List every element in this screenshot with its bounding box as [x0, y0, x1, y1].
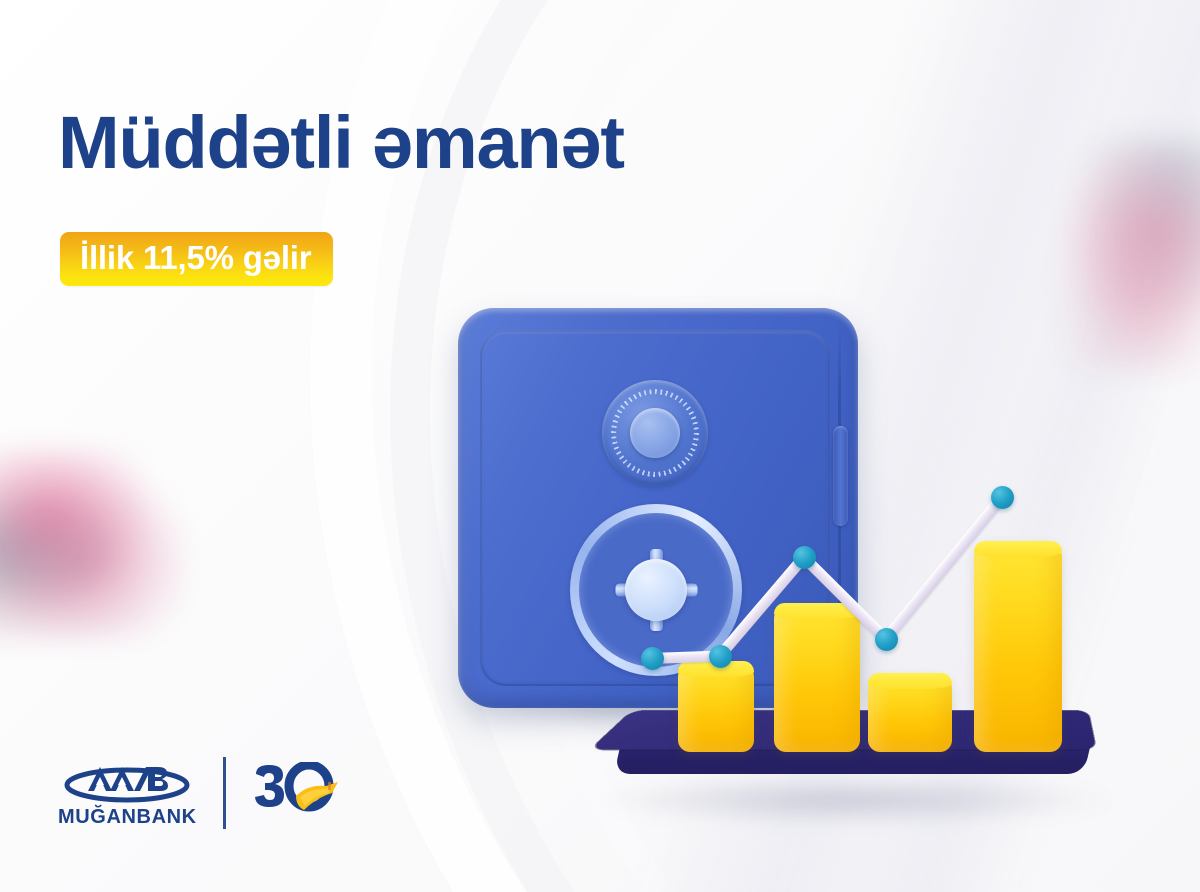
- safe-hinge-icon: [833, 426, 848, 526]
- chart-bar: [774, 603, 860, 752]
- logo-divider: [223, 757, 226, 829]
- chart-bar: [868, 673, 952, 752]
- muganbank-oval-mountain-emblem-icon: [62, 758, 192, 804]
- decorative-blur-left: [0, 452, 182, 637]
- safe-handle-wheel-icon: [570, 504, 742, 676]
- platform-shadow: [592, 784, 1112, 824]
- page-title: Müddətli əmanət: [58, 104, 624, 182]
- chart-bar: [678, 661, 754, 752]
- trend-node: [875, 628, 898, 651]
- dial-knob: [630, 408, 680, 458]
- handle-wheel-hub: [625, 559, 687, 621]
- brand-lockup: MUĞANBANK: [58, 757, 344, 829]
- muganbank-logo: MUĞANBANK: [58, 758, 197, 829]
- safe-with-chart-illustration: [440, 300, 1140, 880]
- muganbank-wordmark: MUĞANBANK: [58, 806, 197, 829]
- combination-dial-icon: [602, 380, 708, 486]
- chart-bar: [974, 541, 1062, 752]
- trend-node: [991, 486, 1014, 509]
- anniversary-30-icon: [252, 762, 344, 824]
- interest-rate-badge: İllik 11,5% gəlir: [60, 232, 333, 286]
